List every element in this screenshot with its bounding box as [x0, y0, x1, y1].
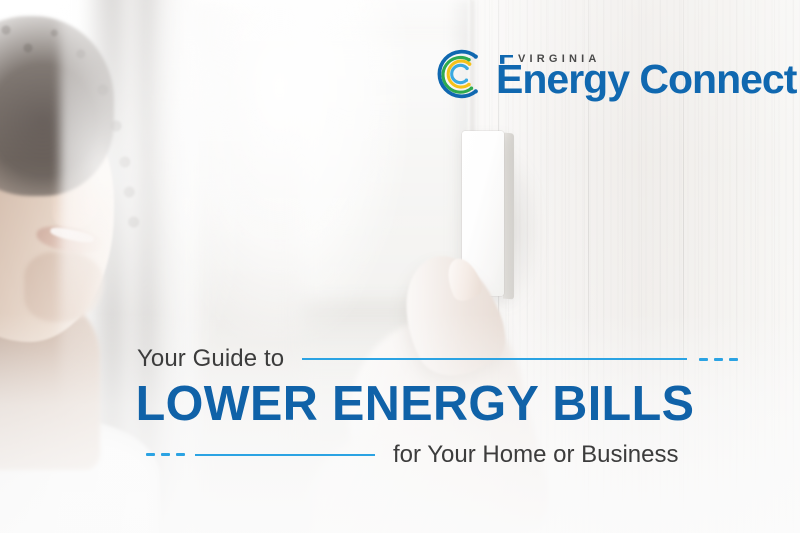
dash-group-icon — [699, 358, 738, 361]
hero-kicker-row: Your Guide to — [0, 340, 800, 378]
brand-name-text: Energy Connect — [496, 56, 796, 102]
brand-wordmark: VIRGINIA Energy Connect — [496, 49, 796, 99]
brand-logo[interactable]: VIRGINIA Energy Connect — [428, 38, 768, 110]
horizontal-rule — [195, 454, 375, 456]
hero-subline: for Your Home or Business — [393, 443, 678, 467]
hero-subline-row: for Your Home or Business — [0, 436, 800, 474]
page-title: LOWER ENERGY BILLS — [0, 380, 792, 430]
hero-kicker: Your Guide to — [137, 347, 284, 371]
hero-banner: VIRGINIA Energy Connect Your Guide to LO… — [0, 0, 800, 533]
thermostat-side-face — [503, 133, 514, 300]
dash-group-icon — [146, 453, 185, 456]
hero-copy-block: Your Guide to LOWER ENERGY BILLS for You… — [0, 340, 800, 474]
horizontal-rule — [302, 358, 687, 360]
energy-connect-circular-c-logomark — [428, 43, 490, 105]
